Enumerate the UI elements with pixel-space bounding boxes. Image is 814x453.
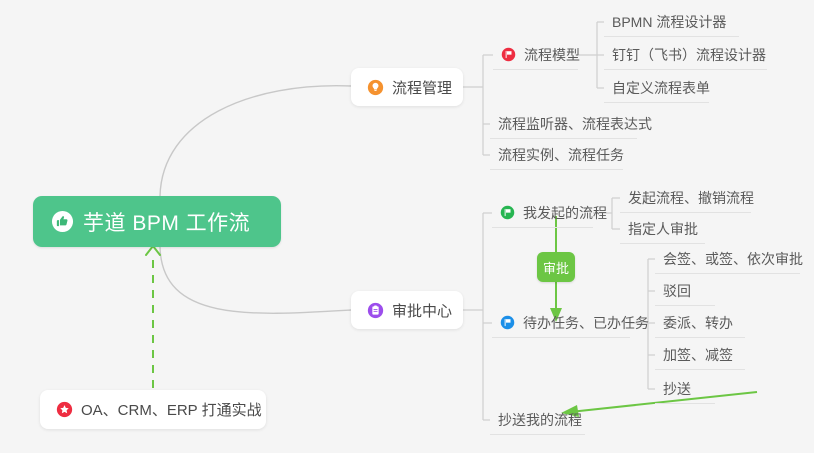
- node-countersign[interactable]: 会签、或签、依次审批: [655, 244, 800, 274]
- instance-task-label: 流程实例、流程任务: [498, 145, 624, 165]
- delegate-transfer-label: 委派、转办: [663, 313, 733, 333]
- node-approval-center[interactable]: 审批中心: [351, 291, 463, 329]
- designated-approver-label: 指定人审批: [628, 219, 698, 239]
- wire-root-to-approval-center: [160, 247, 351, 313]
- node-add-remove-sign[interactable]: 加签、减签: [655, 340, 745, 370]
- lightbulb-pin-icon: [367, 79, 384, 96]
- node-cc[interactable]: 抄送: [655, 374, 715, 404]
- thumbs-up-icon: [51, 210, 74, 233]
- cc-label: 抄送: [663, 379, 691, 399]
- node-custom-process-form[interactable]: 自定义流程表单: [604, 73, 709, 103]
- listener-expression-label: 流程监听器、流程表达式: [498, 114, 652, 134]
- node-listener-expression[interactable]: 流程监听器、流程表达式: [490, 109, 637, 139]
- add-remove-sign-label: 加签、减签: [663, 345, 733, 365]
- oa-crm-erp-label: OA、CRM、ERP 打通实战: [81, 399, 262, 420]
- node-oa-crm-erp-card[interactable]: OA、CRM、ERP 打通实战: [40, 390, 266, 429]
- annotation-shenpi-pill: 审批: [537, 252, 575, 282]
- node-bpmn-designer[interactable]: BPMN 流程设计器: [604, 7, 739, 37]
- my-initiated-label: 我发起的流程: [523, 203, 607, 223]
- node-designated-approver[interactable]: 指定人审批: [620, 214, 705, 244]
- node-process-management[interactable]: 流程管理: [351, 68, 463, 106]
- reject-label: 驳回: [663, 281, 691, 301]
- process-model-label: 流程模型: [524, 45, 580, 65]
- node-start-cancel-process[interactable]: 发起流程、撤销流程: [620, 183, 751, 213]
- shenpi-pill-label: 审批: [543, 258, 569, 277]
- clipboard-icon: [367, 302, 384, 319]
- mindmap-canvas: 芋道 BPM 工作流 流程管理 流程模型 BPMN 流程设计器 钉钉（飞书）流程…: [0, 0, 814, 453]
- start-cancel-process-label: 发起流程、撤销流程: [628, 188, 754, 208]
- node-delegate-transfer[interactable]: 委派、转办: [655, 308, 745, 338]
- root-label: 芋道 BPM 工作流: [83, 207, 250, 237]
- flag-icon: [500, 205, 515, 220]
- approval-center-label: 审批中心: [392, 300, 452, 321]
- node-reject[interactable]: 驳回: [655, 276, 715, 306]
- countersign-label: 会签、或签、依次审批: [663, 249, 803, 269]
- node-dingtalk-feishu-designer[interactable]: 钉钉（飞书）流程设计器: [604, 40, 767, 70]
- flag-icon: [501, 47, 516, 62]
- flag-icon: [500, 315, 515, 330]
- dingtalk-feishu-designer-label: 钉钉（飞书）流程设计器: [612, 45, 766, 65]
- arrowhead-bottomcard-to-root: [146, 246, 160, 255]
- node-todo-done-tasks[interactable]: 待办任务、已办任务: [492, 308, 630, 338]
- custom-process-form-label: 自定义流程表单: [612, 78, 710, 98]
- star-icon: [56, 401, 73, 418]
- bpmn-designer-label: BPMN 流程设计器: [612, 12, 726, 32]
- todo-done-tasks-label: 待办任务、已办任务: [523, 313, 649, 333]
- cc-to-me-label: 抄送我的流程: [498, 410, 582, 430]
- node-instance-task[interactable]: 流程实例、流程任务: [490, 140, 623, 170]
- process-management-label: 流程管理: [392, 77, 452, 98]
- node-cc-to-me[interactable]: 抄送我的流程: [490, 405, 585, 435]
- node-my-initiated[interactable]: 我发起的流程: [492, 198, 593, 228]
- wire-root-to-process-management: [160, 86, 351, 196]
- root-node[interactable]: 芋道 BPM 工作流: [33, 196, 281, 247]
- node-process-model[interactable]: 流程模型: [493, 40, 578, 70]
